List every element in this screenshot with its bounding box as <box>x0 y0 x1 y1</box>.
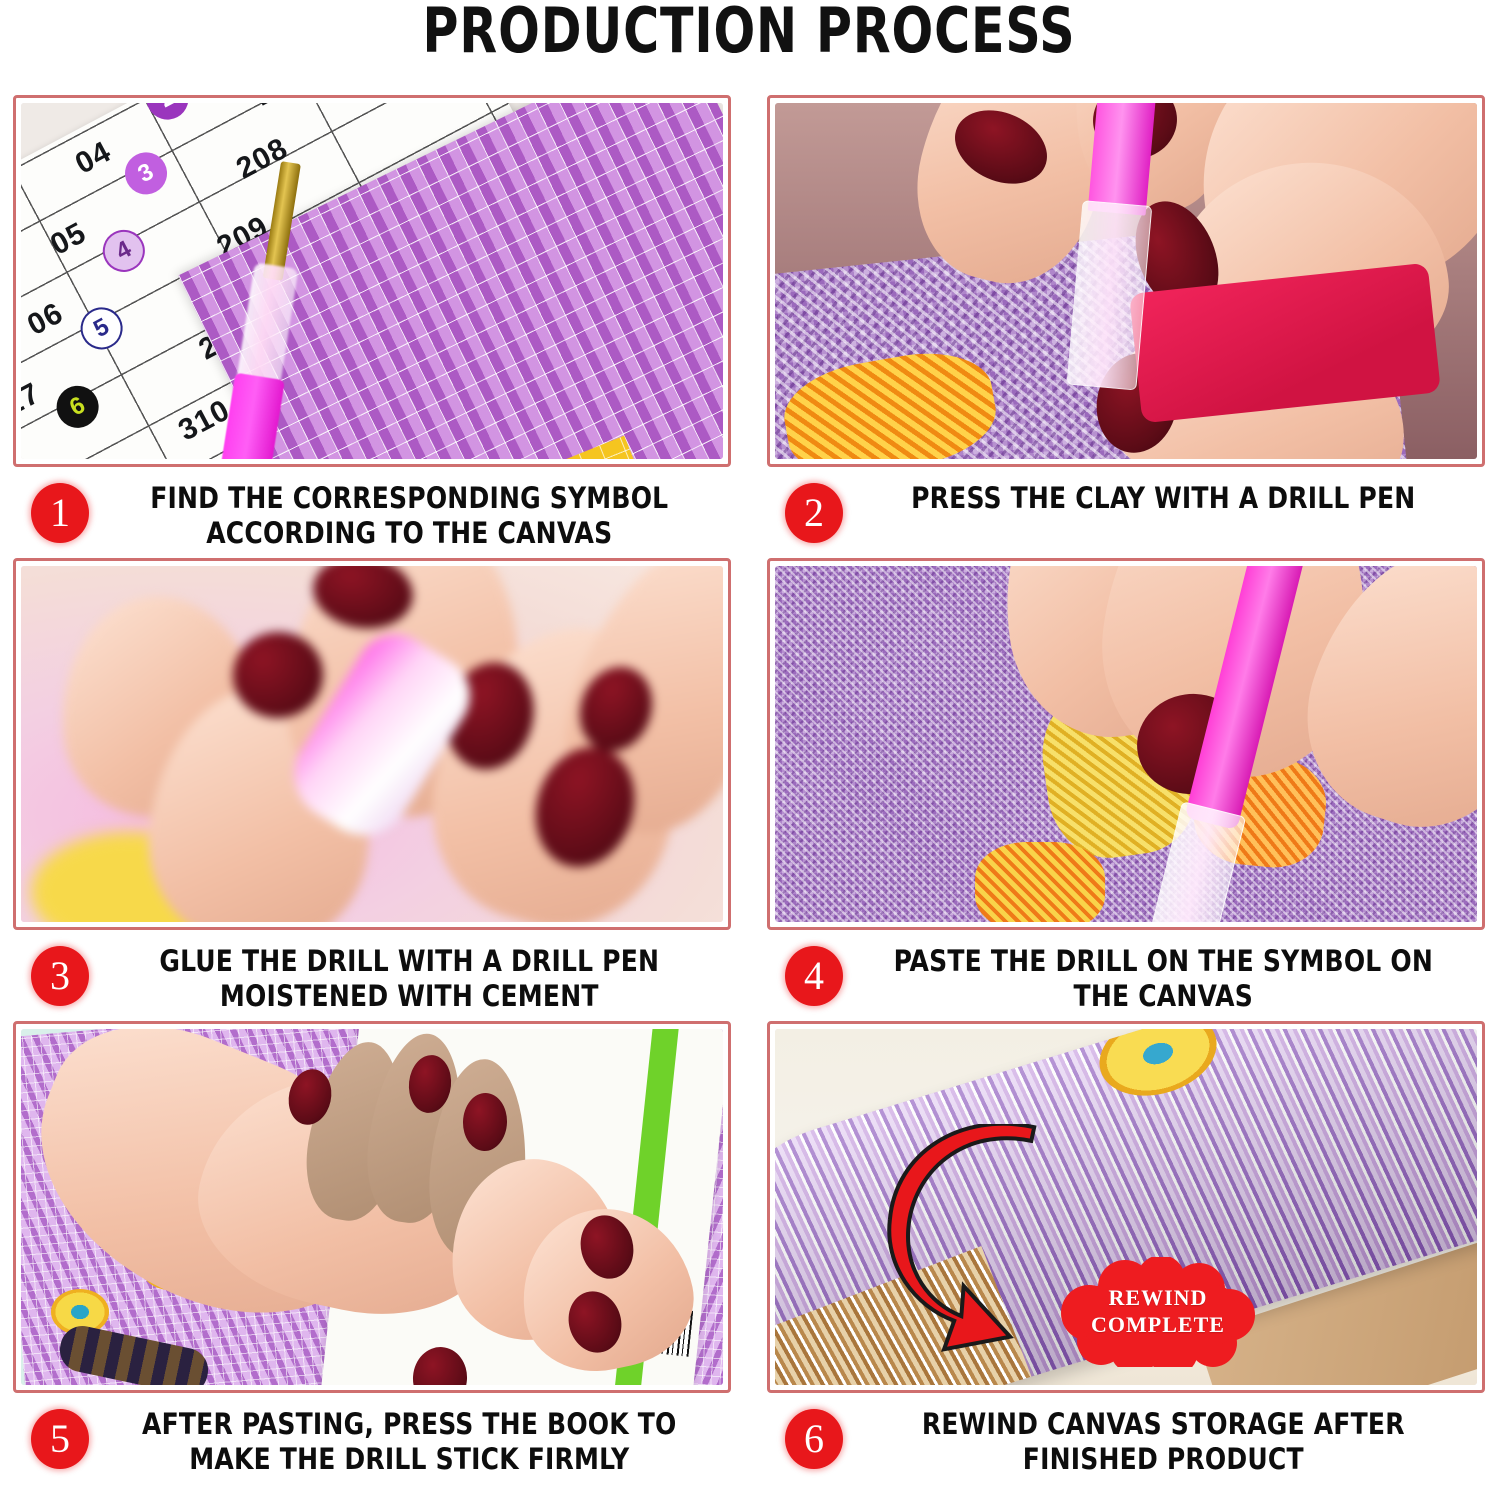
step-1-photo-frame: 04 05 06 27 154 208 209 211 310 321 327 … <box>13 95 731 467</box>
step-number-badge: 2 <box>785 483 843 543</box>
step-number-badge: 4 <box>785 946 843 1006</box>
blurred-hand-scene <box>21 566 723 922</box>
step-caption-text: REWIND CANVAS STORAGE AFTER FINISHED PRO… <box>871 1407 1468 1478</box>
step-6-caption: 6 REWIND CANVAS STORAGE AFTER FINISHED P… <box>767 1393 1485 1482</box>
step-4-photo <box>775 566 1477 922</box>
drill-pen-pink-body <box>1088 103 1156 216</box>
step-number-badge: 3 <box>31 946 89 1006</box>
step-caption-text: PRESS THE CLAY WITH A DRILL PEN <box>871 481 1468 516</box>
drill-pen-clear-section <box>1066 200 1152 390</box>
rewind-complete-label: REWIND COMPLETE <box>1053 1257 1263 1367</box>
step-5-photo-frame <box>13 1021 731 1393</box>
production-process-page: PRODUCTION PROCESS 04 05 06 27 154 208 2… <box>0 0 1498 1500</box>
step-4-caption: 4 PASTE THE DRILL ON THE SYMBOL ON THE C… <box>767 930 1485 1019</box>
step-1-caption: 1 FIND THE CORRESPONDING SYMBOL ACCORDIN… <box>13 467 731 556</box>
step-1: 04 05 06 27 154 208 209 211 310 321 327 … <box>13 95 731 556</box>
step-5-caption: 5 AFTER PASTING, PRESS THE BOOK TO MAKE … <box>13 1393 731 1482</box>
steps-grid: 04 05 06 27 154 208 209 211 310 321 327 … <box>13 95 1485 1481</box>
step-6: REWIND COMPLETE 6 REWIND CANVAS STORAGE … <box>767 1021 1485 1482</box>
step-2-photo-frame <box>767 95 1485 467</box>
step-3: 3 GLUE THE DRILL WITH A DRILL PEN MOISTE… <box>13 558 731 1019</box>
step-5: 5 AFTER PASTING, PRESS THE BOOK TO MAKE … <box>13 1021 731 1482</box>
step-3-photo-frame <box>13 558 731 930</box>
step-3-caption: 3 GLUE THE DRILL WITH A DRILL PEN MOISTE… <box>13 930 731 1019</box>
step-number-badge: 1 <box>31 483 89 543</box>
step-2-caption: 2 PRESS THE CLAY WITH A DRILL PEN <box>767 467 1485 553</box>
step-3-photo <box>21 566 723 922</box>
step-6-photo: REWIND COMPLETE <box>775 1029 1477 1385</box>
canvas-orange-area-2 <box>975 842 1105 922</box>
curved-rewind-arrow-icon <box>853 1124 1083 1354</box>
page-title: PRODUCTION PROCESS <box>90 0 1408 67</box>
step-caption-text: PASTE THE DRILL ON THE SYMBOL ON THE CAN… <box>871 944 1468 1015</box>
step-4-photo-frame <box>767 558 1485 930</box>
step-5-photo <box>21 1029 723 1385</box>
step-caption-text: AFTER PASTING, PRESS THE BOOK TO MAKE TH… <box>117 1407 714 1478</box>
step-4: 4 PASTE THE DRILL ON THE SYMBOL ON THE C… <box>767 558 1485 1019</box>
step-caption-text: FIND THE CORRESPONDING SYMBOL ACCORDING … <box>117 481 714 552</box>
step-2-photo <box>775 103 1477 459</box>
badge-line-2: COMPLETE <box>1091 1312 1225 1339</box>
step-number-badge: 6 <box>785 1409 843 1469</box>
canvas-yellow-area <box>354 436 687 459</box>
badge-line-1: REWIND <box>1109 1285 1208 1312</box>
rewind-complete-badge: REWIND COMPLETE <box>1053 1257 1263 1367</box>
step-2: 2 PRESS THE CLAY WITH A DRILL PEN <box>767 95 1485 556</box>
step-number-badge: 5 <box>31 1409 89 1469</box>
step-1-photo: 04 05 06 27 154 208 209 211 310 321 327 … <box>21 103 723 459</box>
step-caption-text: GLUE THE DRILL WITH A DRILL PEN MOISTENE… <box>117 944 714 1015</box>
drill-pen-metal-tip <box>263 161 301 281</box>
peacock-eye-motif <box>1089 1029 1227 1109</box>
step-6-photo-frame: REWIND COMPLETE <box>767 1021 1485 1393</box>
